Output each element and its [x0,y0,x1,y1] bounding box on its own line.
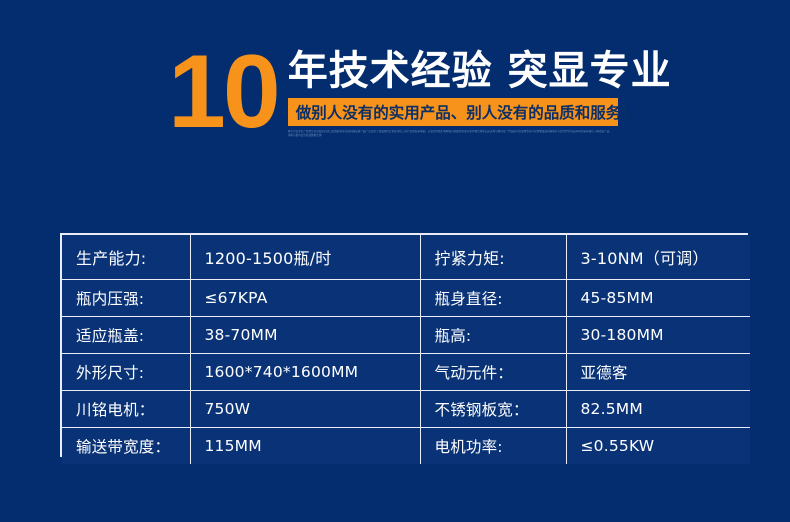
spec-label: 不锈钢板宽： [420,391,566,428]
spec-label: 瓶身直径: [420,280,566,317]
spec-label: 生产能力: [62,235,190,280]
hero-microtext: 本公司专业生产各类全自动旋盖机封口机灌装机等包装机械设备产品广泛应用于食品饮料日… [288,130,612,138]
spec-value: 亚德客 [566,354,750,391]
spec-value: 30-180MM [566,317,750,354]
table-row: 瓶内压强: ≤67KPA 瓶身直径: 45-85MM [62,280,750,317]
spec-value: 115MM [190,428,420,465]
spec-label: 拧紧力矩: [420,235,566,280]
spec-label: 输送带宽度： [62,428,190,465]
table-row: 适应瓶盖: 38-70MM 瓶高: 30-180MM [62,317,750,354]
spec-table-container: 生产能力: 1200-1500瓶/时 拧紧力矩: 3-10NM（可调） 瓶内压强… [60,233,748,457]
spec-value: ≤67KPA [190,280,420,317]
spec-label: 气动元件： [420,354,566,391]
spec-value: 38-70MM [190,317,420,354]
spec-value: 1200-1500瓶/时 [190,235,420,280]
spec-label: 适应瓶盖: [62,317,190,354]
hero-text-block: 年技术经验 突显专业 做别人没有的实用产品、别人没有的品质和服务！ 本公司专业生… [288,44,672,138]
table-row: 川铭电机： 750W 不锈钢板宽： 82.5MM [62,391,750,428]
page-root: 10 年技术经验 突显专业 做别人没有的实用产品、别人没有的品质和服务！ 本公司… [0,0,790,522]
spec-value: 750W [190,391,420,428]
spec-table: 生产能力: 1200-1500瓶/时 拧紧力矩: 3-10NM（可调） 瓶内压强… [62,235,750,464]
spec-value: 1600*740*1600MM [190,354,420,391]
hero-content: 10 年技术经验 突显专业 做别人没有的实用产品、别人没有的品质和服务！ 本公司… [168,44,672,138]
spec-value: 82.5MM [566,391,750,428]
table-row: 生产能力: 1200-1500瓶/时 拧紧力矩: 3-10NM（可调） [62,235,750,280]
table-row: 输送带宽度： 115MM 电机功率: ≤0.55KW [62,428,750,465]
hero-big-number: 10 [168,50,278,135]
spec-value: 45-85MM [566,280,750,317]
spec-value: ≤0.55KW [566,428,750,465]
hero-subtitle-bar: 做别人没有的实用产品、别人没有的品质和服务！ [288,98,618,126]
hero-title: 年技术经验 突显专业 [288,50,672,93]
spec-label: 外形尺寸: [62,354,190,391]
spec-label: 瓶内压强: [62,280,190,317]
spec-value: 3-10NM（可调） [566,235,750,280]
hero-subtitle: 做别人没有的实用产品、别人没有的品质和服务！ [296,101,637,123]
table-row: 外形尺寸: 1600*740*1600MM 气动元件： 亚德客 [62,354,750,391]
spec-label: 瓶高: [420,317,566,354]
hero-banner: 10 年技术经验 突显专业 做别人没有的实用产品、别人没有的品质和服务！ 本公司… [0,0,790,200]
spec-label: 电机功率: [420,428,566,465]
spec-label: 川铭电机： [62,391,190,428]
